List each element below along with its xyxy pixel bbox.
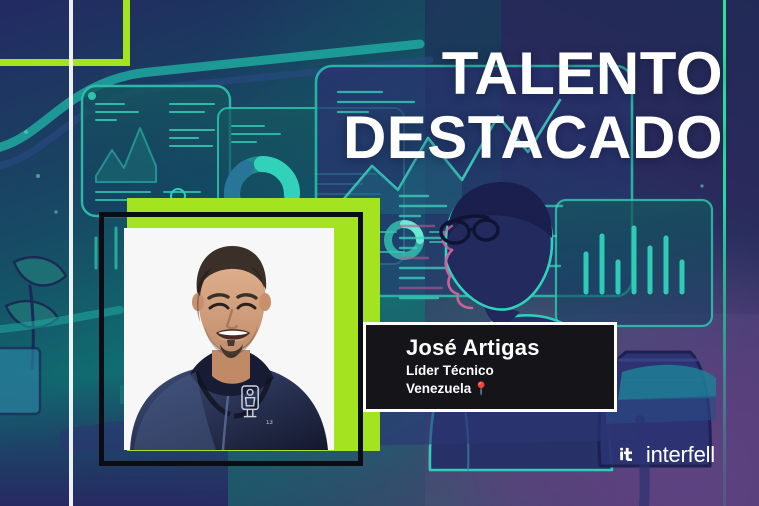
interfell-it-monogram-icon (619, 446, 638, 465)
person-photo: 13 (124, 228, 334, 450)
brand-wordmark: interfell (646, 442, 715, 468)
map-pin-icon: 📍 (473, 382, 489, 395)
person-name: José Artigas (406, 336, 614, 360)
green-accent-line (723, 0, 726, 506)
person-location: Venezuela 📍 (406, 380, 614, 398)
white-divider-line (69, 0, 73, 506)
title-line-1: TALENTO (343, 46, 723, 102)
lime-bracket-vertical (123, 0, 130, 64)
lime-bracket-horizontal (0, 59, 130, 66)
person-name-card: José Artigas Líder Técnico Venezuela 📍 (363, 322, 617, 412)
person-country: Venezuela (406, 380, 471, 398)
poster-title: TALENTO DESTACADO (343, 46, 723, 166)
poster-canvas: TALENTO DESTACADO (0, 0, 759, 506)
svg-text:13: 13 (266, 420, 273, 426)
person-role: Líder Técnico (406, 362, 614, 380)
brand-logo: interfell (619, 442, 715, 468)
title-line-2: DESTACADO (343, 110, 723, 166)
